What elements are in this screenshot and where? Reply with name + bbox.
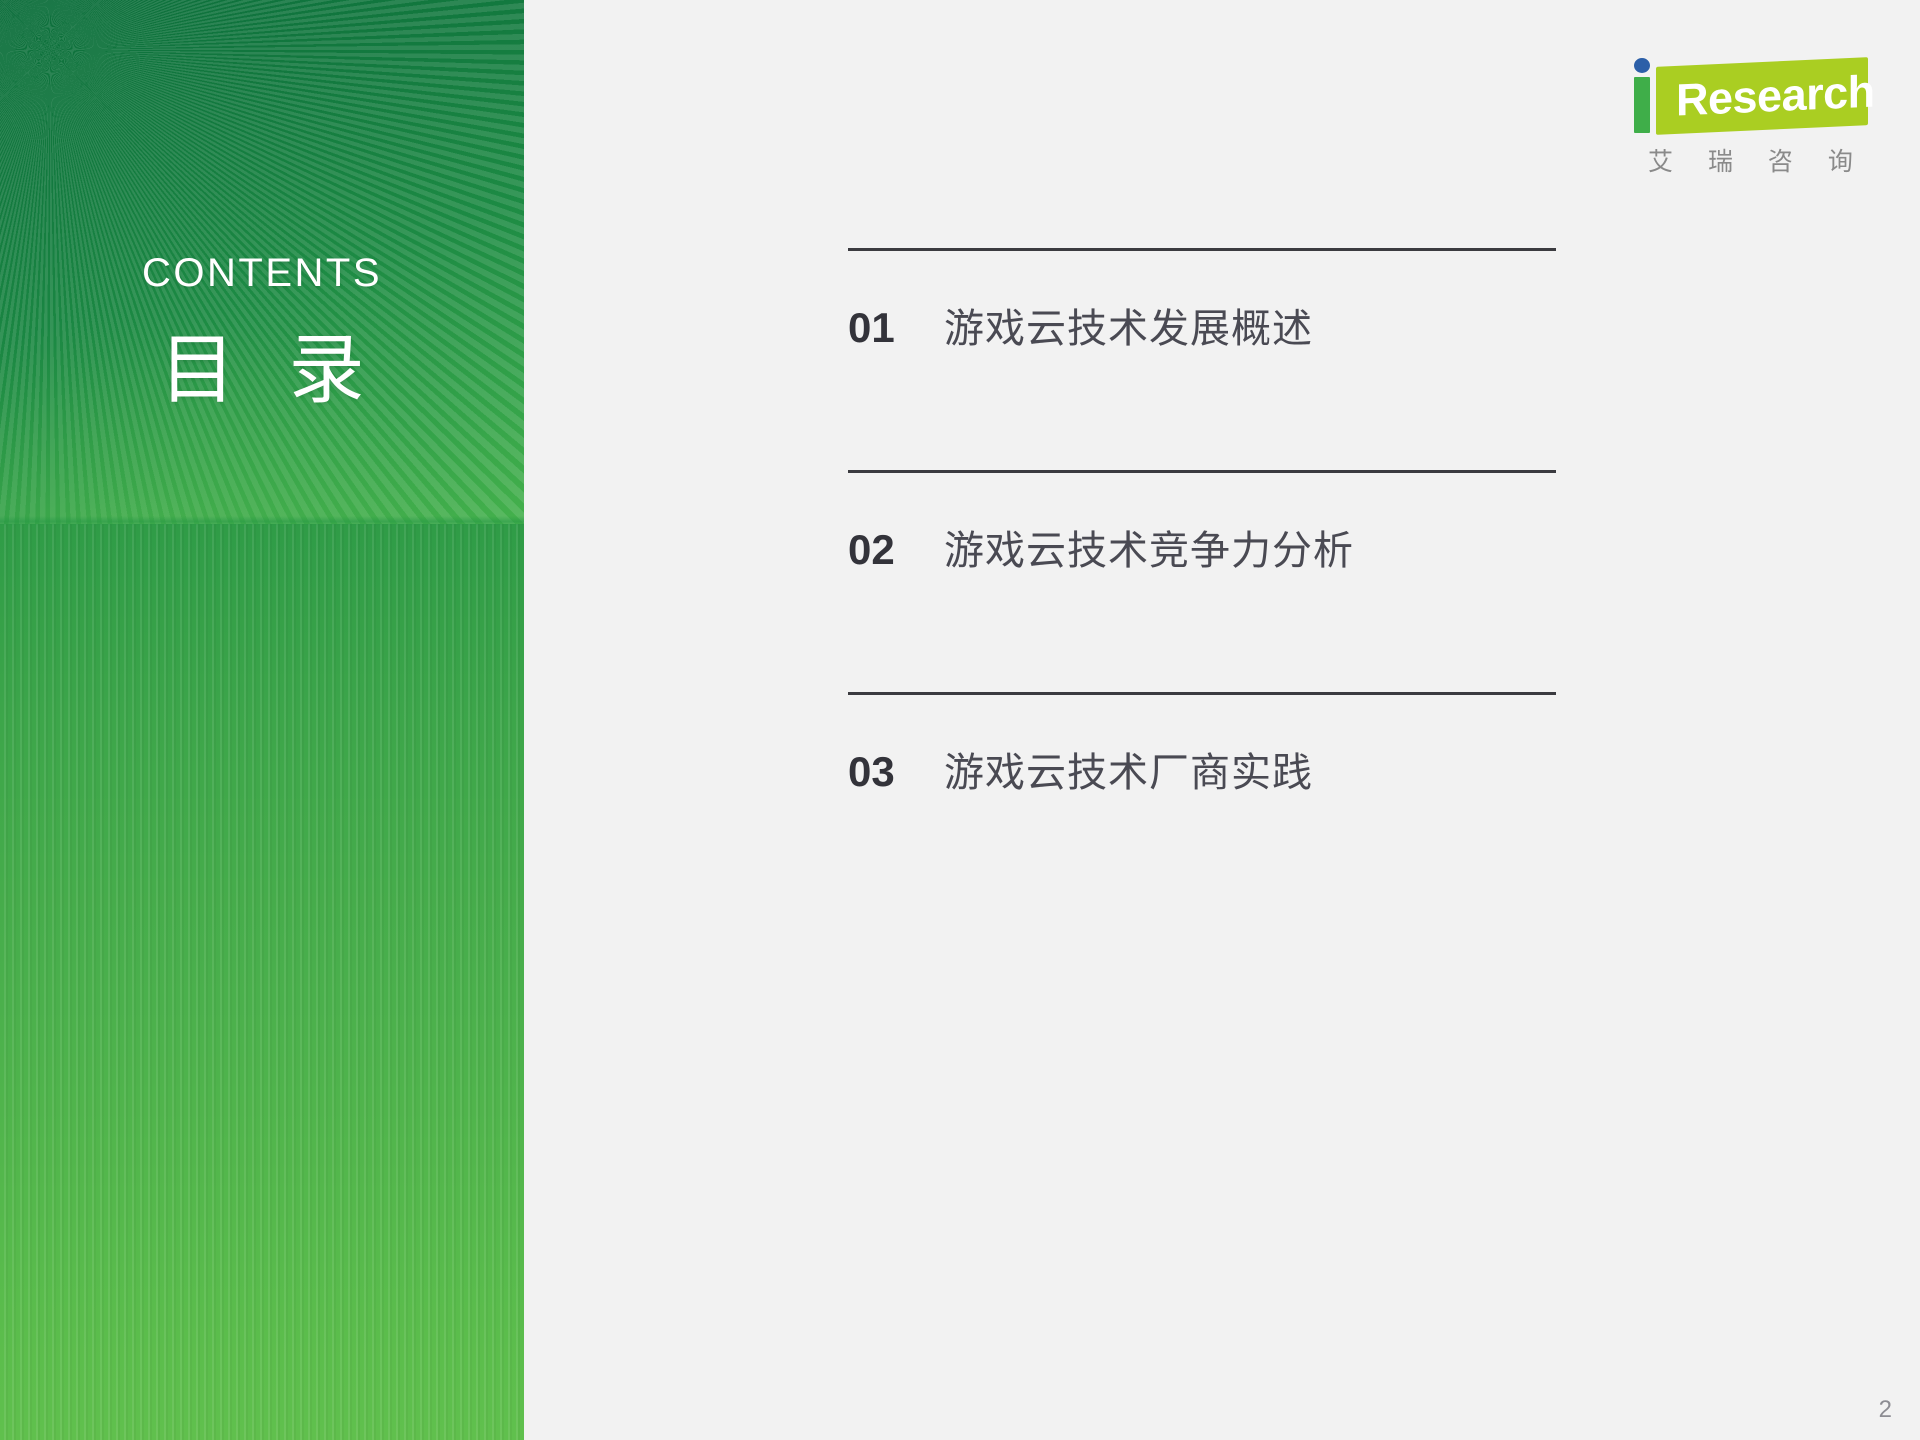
toc-row: 02 游戏云技术竞争力分析 bbox=[848, 518, 1556, 576]
page-number: 2 bbox=[1879, 1396, 1892, 1424]
toc-divider bbox=[848, 470, 1556, 473]
mulu-heading: 目 录 bbox=[0, 330, 524, 412]
toc-number: 01 bbox=[848, 304, 944, 352]
toc-row: 03 游戏云技术厂商实践 bbox=[848, 740, 1556, 798]
logo-wordmark: Research bbox=[1676, 59, 1876, 132]
toc-title: 游戏云技术厂商实践 bbox=[944, 740, 1313, 798]
panel-seam-divider bbox=[0, 516, 524, 526]
toc-row: 01 游戏云技术发展概述 bbox=[848, 296, 1556, 354]
toc-divider bbox=[848, 248, 1556, 251]
slide-table-of-contents: CONTENTS 目 录 Research 艾 瑞 咨 询 01 游戏云技术发展… bbox=[0, 0, 1920, 1440]
toc-item-02[interactable]: 02 游戏云技术竞争力分析 bbox=[848, 470, 1556, 692]
toc-title: 游戏云技术发展概述 bbox=[944, 296, 1313, 354]
toc-item-01[interactable]: 01 游戏云技术发展概述 bbox=[848, 248, 1556, 470]
logo-i-dot-icon bbox=[1634, 58, 1650, 73]
toc-number: 03 bbox=[848, 748, 944, 796]
iresearch-logo: Research 艾 瑞 咨 询 bbox=[1628, 50, 1868, 172]
toc-divider bbox=[848, 692, 1556, 695]
contents-heading: CONTENTS bbox=[0, 253, 524, 293]
table-of-contents: 01 游戏云技术发展概述 02 游戏云技术竞争力分析 03 游戏云技术厂商实践 bbox=[848, 248, 1556, 914]
vertical-stripes-background bbox=[0, 524, 524, 1440]
logo-i-stem-icon bbox=[1634, 77, 1650, 133]
logo-chinese-name: 艾 瑞 咨 询 bbox=[1634, 142, 1868, 178]
toc-item-03[interactable]: 03 游戏云技术厂商实践 bbox=[848, 692, 1556, 914]
toc-number: 02 bbox=[848, 526, 944, 574]
sidebar-panel: CONTENTS 目 录 bbox=[0, 0, 524, 1440]
toc-title: 游戏云技术竞争力分析 bbox=[944, 518, 1354, 576]
